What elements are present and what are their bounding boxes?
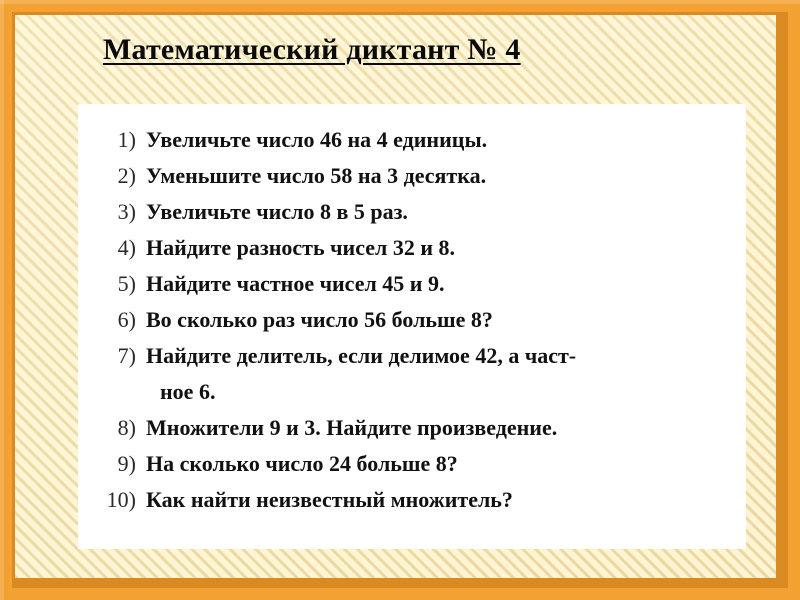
task-list: 1)Увеличьте число 46 на 4 единицы.2)Умен…	[78, 122, 746, 518]
task-text: Во сколько раз число 56 больше 8?	[146, 302, 746, 338]
task-number: 8)	[78, 410, 146, 446]
page-title: Математический диктант № 4	[103, 33, 521, 67]
task-number: 2)	[78, 158, 146, 194]
task-text: Найдите делитель, если делимое 42, а час…	[146, 338, 746, 374]
slide-canvas: Математический диктант № 4 1)Увеличьте ч…	[0, 0, 800, 600]
task-number: 5)	[78, 266, 146, 302]
task-text: Увеличьте число 46 на 4 единицы.	[146, 122, 746, 158]
task-number: 10)	[78, 482, 146, 518]
content-card: 1)Увеличьте число 46 на 4 единицы.2)Умен…	[78, 104, 746, 549]
task-row: 4)Найдите разность чисел 32 и 8.	[78, 230, 746, 266]
task-row: 5)Найдите частное чисел 45 и 9.	[78, 266, 746, 302]
task-row: 9)На сколько число 24 больше 8?	[78, 446, 746, 482]
task-row-continuation: ное 6.	[78, 374, 746, 410]
task-text: Найдите частное чисел 45 и 9.	[146, 266, 746, 302]
task-number: 3)	[78, 194, 146, 230]
task-row: 10)Как найти неизвестный множитель?	[78, 482, 746, 518]
task-number: 6)	[78, 302, 146, 338]
task-number: 1)	[78, 122, 146, 158]
task-row: 7)Найдите делитель, если делимое 42, а ч…	[78, 338, 746, 374]
task-text: На сколько число 24 больше 8?	[146, 446, 746, 482]
task-text: ное 6.	[146, 374, 746, 410]
task-row: 8)Множители 9 и 3. Найдите произведение.	[78, 410, 746, 446]
task-text: Как найти неизвестный множитель?	[146, 482, 746, 518]
task-text: Множители 9 и 3. Найдите произведение.	[146, 410, 746, 446]
task-text: Найдите разность чисел 32 и 8.	[146, 230, 746, 266]
task-number: 4)	[78, 230, 146, 266]
task-number: 7)	[78, 338, 146, 374]
task-row: 2)Уменьшите число 58 на 3 десятка.	[78, 158, 746, 194]
task-number: 9)	[78, 446, 146, 482]
task-text: Увеличьте число 8 в 5 раз.	[146, 194, 746, 230]
task-text: Уменьшите число 58 на 3 десятка.	[146, 158, 746, 194]
task-row: 3)Увеличьте число 8 в 5 раз.	[78, 194, 746, 230]
task-row: 6)Во сколько раз число 56 больше 8?	[78, 302, 746, 338]
task-row: 1)Увеличьте число 46 на 4 единицы.	[78, 122, 746, 158]
